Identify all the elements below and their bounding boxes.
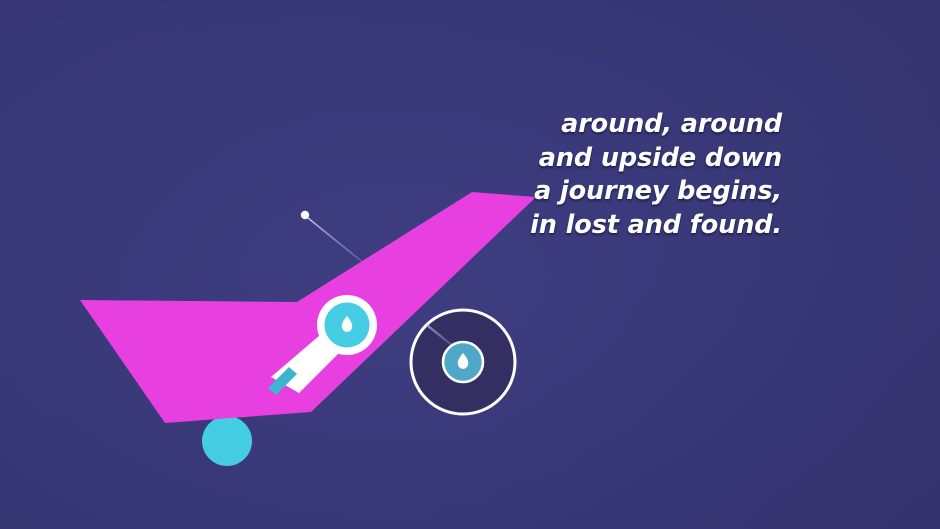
- white-spark-dot: [301, 211, 309, 219]
- lyrics-block: around, around and upside down a journey…: [452, 108, 782, 242]
- lyric-line-3: a journey begins,: [452, 175, 782, 209]
- turntable-tonearm-illustration: [0, 0, 940, 529]
- lyric-line-4: in lost and found.: [452, 209, 782, 243]
- video-frame: around, around and upside down a journey…: [0, 0, 940, 529]
- lyric-line-2: and upside down: [452, 142, 782, 176]
- lyric-line-1: around, around: [452, 108, 782, 142]
- cyan-dot-bottom: [202, 416, 252, 466]
